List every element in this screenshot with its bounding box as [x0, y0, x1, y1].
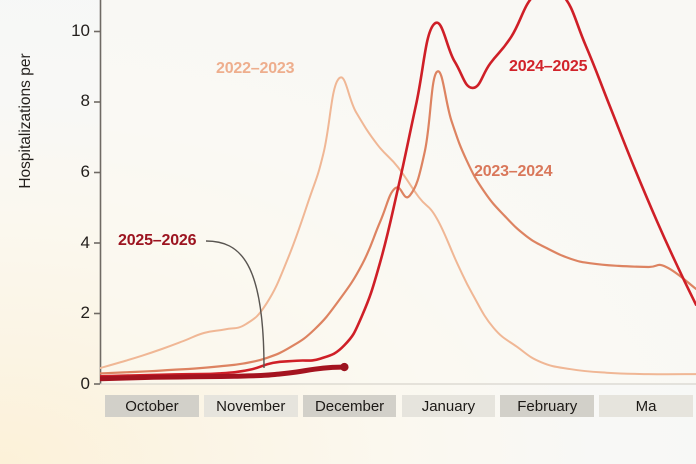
x-axis-month-label: October: [125, 398, 178, 415]
x-axis-month-band: January: [402, 395, 496, 417]
series-label-2024-2025: 2024–2025: [509, 58, 587, 76]
x-axis-month-label: January: [422, 398, 475, 415]
x-axis-month-label: Ma: [636, 398, 657, 415]
y-axis-ticks: [94, 32, 100, 385]
series-label-text: 2023–2024: [474, 163, 552, 180]
series-label-2023-2024: 2023–2024: [474, 163, 552, 181]
x-axis-month-label: November: [216, 398, 285, 415]
x-axis-month-band: November: [204, 395, 298, 417]
series-label-text: 2024–2025: [509, 58, 587, 75]
x-axis-month-band: December: [303, 395, 397, 417]
series-label-text: 2025–2026: [118, 232, 196, 249]
series-endpoint-marker-2025-2026: [340, 363, 348, 371]
series-label-text: 2022–2023: [216, 60, 294, 77]
chart-screenshot: Hospitalizations per 10 8 6 4 2 0: [0, 0, 696, 464]
x-axis-month-label: February: [517, 398, 577, 415]
x-axis-month-label: December: [315, 398, 384, 415]
x-axis-month-band: October: [105, 395, 199, 417]
x-axis-month-band: Ma: [599, 395, 693, 417]
series-label-2025-2026: 2025–2026: [118, 232, 196, 250]
x-axis-month-band: February: [500, 395, 594, 417]
series-label-2022-2023: 2022–2023: [216, 60, 294, 78]
